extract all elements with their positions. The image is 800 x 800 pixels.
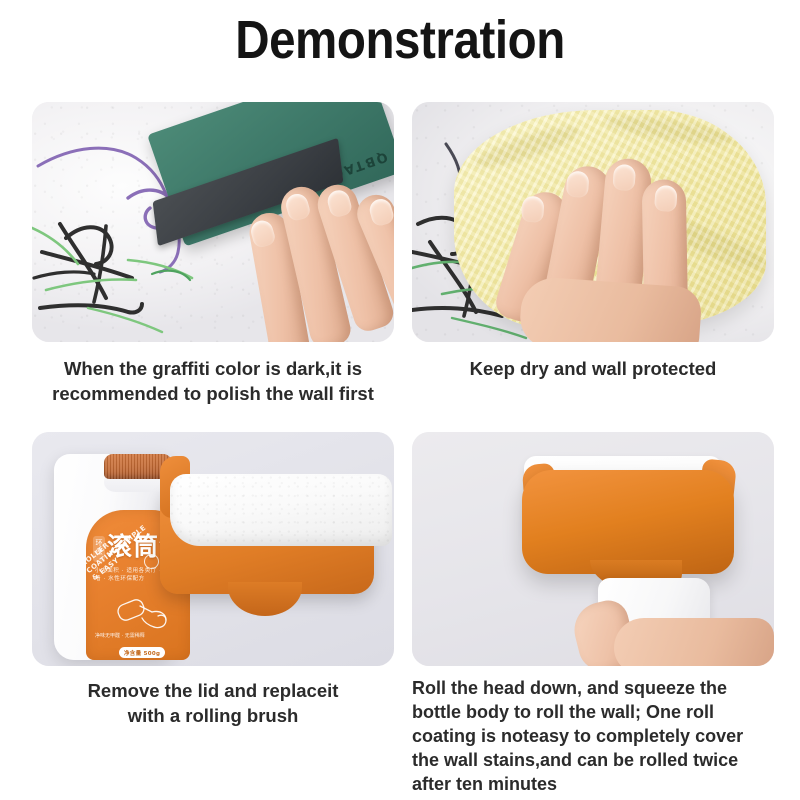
caption-step-1: When the graffiti color is dark,it is re… xyxy=(32,356,394,406)
label-footer-text: 净味无甲醛 · 无需稀释 xyxy=(95,633,145,640)
label-net-weight: 净含量 500g xyxy=(119,647,165,658)
demo-step-3: 环保 滚筒漆 小大面积 · 适用各类厅 · 水泥砂浆墙 · 水性环保配方 ROL… xyxy=(32,432,394,728)
roller-fleece xyxy=(170,474,392,546)
demo-step-2: Keep dry and wall protected xyxy=(412,102,774,381)
photo-keep-dry xyxy=(412,102,774,342)
photo-roll-wall xyxy=(412,432,774,666)
paint-bottle: 环保 滚筒漆 小大面积 · 适用各类厅 · 水泥砂浆墙 · 水性环保配方 ROL… xyxy=(54,454,176,660)
photo-replace-lid: 环保 滚筒漆 小大面积 · 适用各类厅 · 水泥砂浆墙 · 水性环保配方 ROL… xyxy=(32,432,394,666)
caption-step-3: Remove the lid and replaceit with a roll… xyxy=(32,678,394,728)
page-title: Demonstration xyxy=(48,8,752,72)
caption-step-2: Keep dry and wall protected xyxy=(412,356,774,381)
caption-step-4: Roll the head down, and squeeze the bott… xyxy=(412,676,774,796)
label-icon-circle-1 xyxy=(144,554,159,569)
photo-polish-wall: QBTAOJCC 1 2 SHI xyxy=(32,102,394,342)
hand-wiping-wall xyxy=(501,125,729,342)
demo-step-4: Roll the head down, and squeeze the bott… xyxy=(412,432,774,796)
roller-cradle xyxy=(522,470,734,574)
hand-squeezing-bottle xyxy=(562,588,774,666)
palm xyxy=(614,618,774,666)
demo-step-1: QBTAOJCC 1 2 SHI When the graffiti color… xyxy=(32,102,394,406)
